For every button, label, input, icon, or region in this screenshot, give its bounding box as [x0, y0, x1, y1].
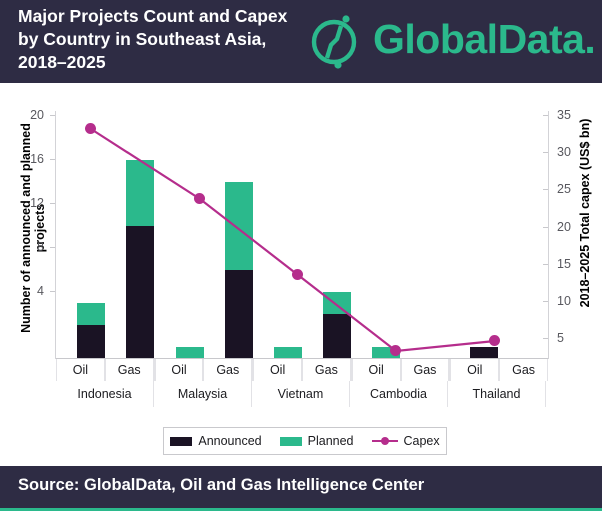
- legend-label-planned: Planned: [308, 434, 354, 448]
- x-label-indonesia-gas: Gas: [105, 359, 154, 381]
- legend-label-capex: Capex: [404, 434, 440, 448]
- x-label-vietnam-gas: Gas: [302, 359, 351, 381]
- x-label-indonesia: Indonesia: [56, 381, 154, 407]
- legend-capex-dot: [381, 437, 389, 445]
- x-label-malaysia-gas: Gas: [203, 359, 252, 381]
- globaldata-wordmark: GlobalData.: [373, 13, 595, 65]
- capex-point-vietnam: [292, 269, 303, 280]
- globaldata-circle-slash-icon: [305, 12, 367, 70]
- legend-item-capex: Capex: [372, 434, 440, 448]
- x-label-malaysia: Malaysia: [154, 381, 252, 407]
- x-axis-country-row: Indonesia Malaysia Vietnam Cambodia Thai…: [56, 381, 548, 407]
- legend-item-planned: Planned: [280, 434, 354, 448]
- x-label-indonesia-oil: Oil: [56, 359, 105, 381]
- capex-point-indonesia: [85, 123, 96, 134]
- x-label-malaysia-oil: Oil: [155, 359, 204, 381]
- capex-point-cambodia: [390, 345, 401, 356]
- x-axis-fuel-row: Oil Gas Oil Gas Oil Gas Oil Gas Oil Gas: [56, 358, 548, 381]
- legend-swatch-planned: [280, 437, 302, 446]
- legend-item-announced: Announced: [170, 434, 261, 448]
- capex-point-malaysia: [194, 193, 205, 204]
- legend-swatch-announced: [170, 437, 192, 446]
- chart-area: Number of announced and planned projects…: [0, 86, 602, 466]
- x-label-thailand-oil: Oil: [450, 359, 499, 381]
- source-text: Source: GlobalData, Oil and Gas Intellig…: [18, 476, 424, 495]
- globaldata-logo: GlobalData.: [305, 10, 590, 72]
- chart-infographic: Major Projects Count and Capex by Countr…: [0, 0, 602, 511]
- x-label-vietnam: Vietnam: [252, 381, 350, 407]
- chart-legend: Announced Planned Capex: [163, 427, 447, 455]
- x-label-cambodia-gas: Gas: [401, 359, 450, 381]
- x-label-thailand: Thailand: [448, 381, 546, 407]
- x-label-thailand-gas: Gas: [499, 359, 548, 381]
- header-bar: Major Projects Count and Capex by Countr…: [0, 0, 602, 83]
- footer-bar: Source: GlobalData, Oil and Gas Intellig…: [0, 466, 602, 511]
- page-title: Major Projects Count and Capex by Countr…: [18, 5, 298, 74]
- x-label-cambodia-oil: Oil: [352, 359, 401, 381]
- x-label-vietnam-oil: Oil: [253, 359, 302, 381]
- x-label-cambodia: Cambodia: [350, 381, 448, 407]
- legend-swatch-capex: [372, 436, 398, 446]
- capex-point-thailand: [489, 335, 500, 346]
- x-axis: Oil Gas Oil Gas Oil Gas Oil Gas Oil Gas …: [56, 358, 548, 407]
- legend-label-announced: Announced: [198, 434, 261, 448]
